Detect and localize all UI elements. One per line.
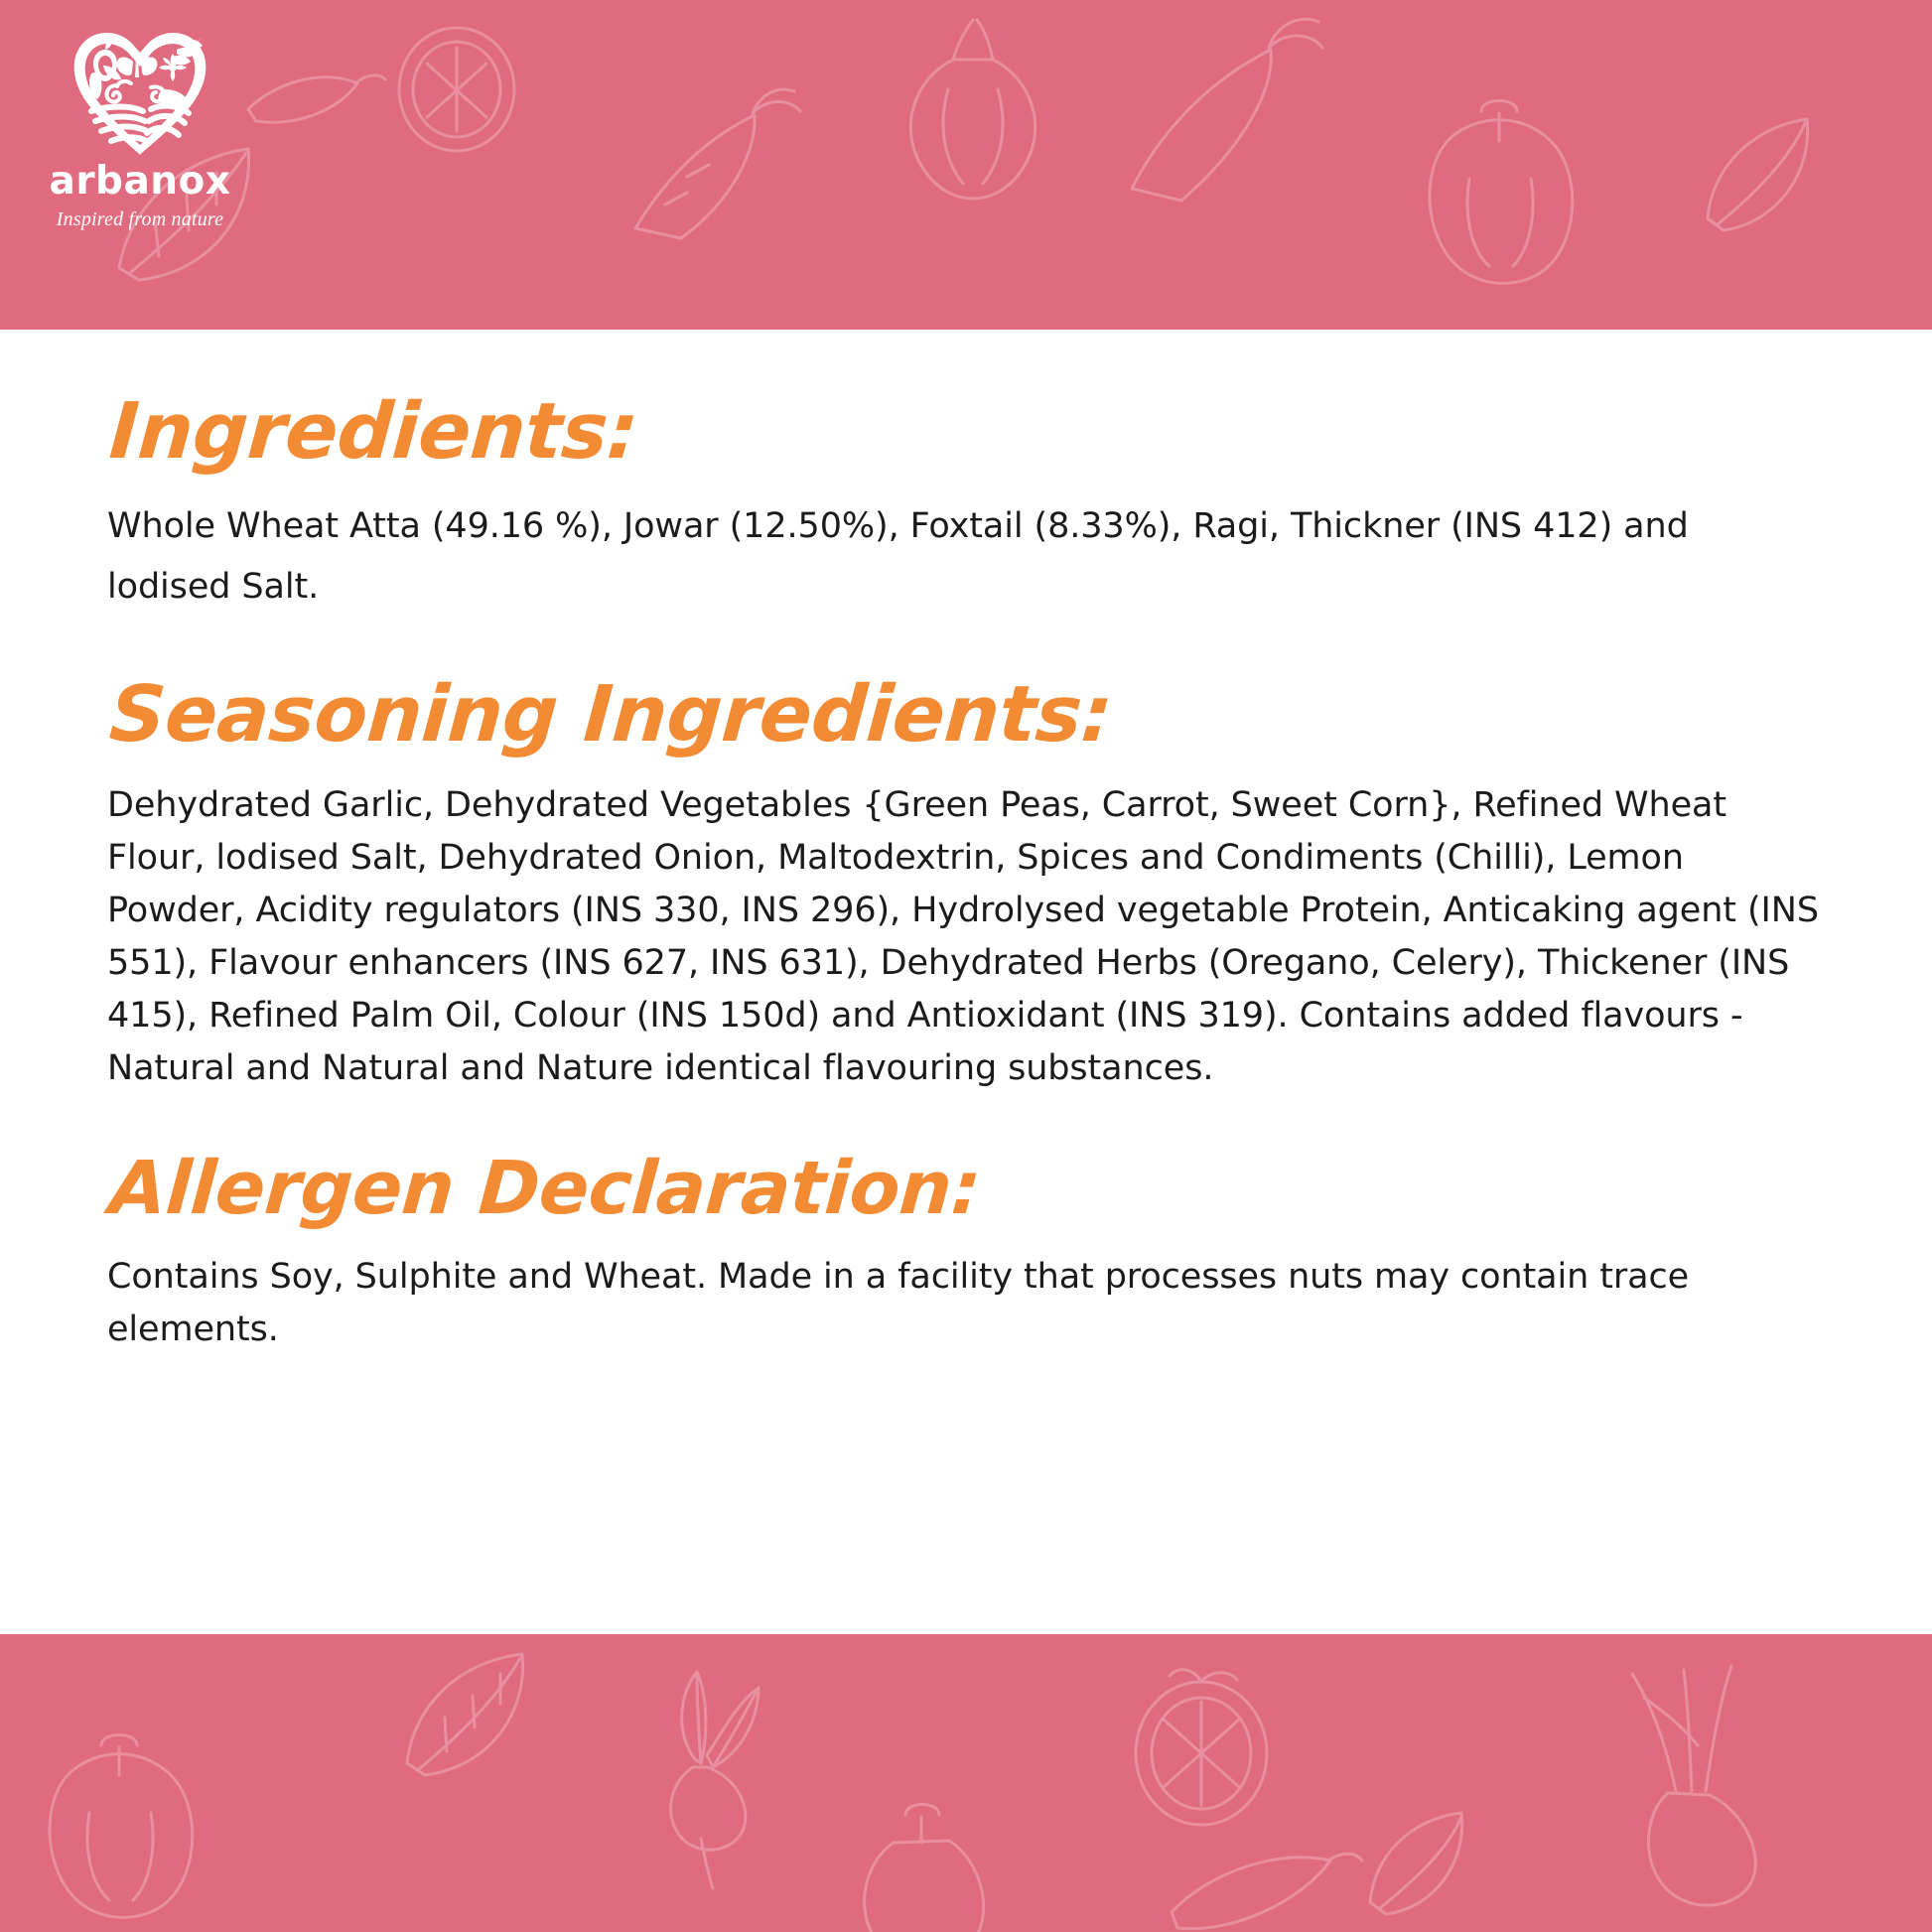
seasoning-ingredients-body: Dehydrated Garlic, Dehydrated Vegetables… [107,779,1825,1096]
ingredients-body: Whole Wheat Atta (49.16 %), Jowar (12.50… [107,496,1795,619]
ingredients-heading: Ingredients: [107,393,1838,471]
ingredients-label-card: arbanox Inspired from nature Ingredients… [0,0,1932,1932]
section-ingredients: Ingredients: Whole Wheat Atta (49.16 %),… [107,393,1833,619]
vegetable-doodle-pattern-bottom [0,1634,1932,1932]
brand-logo: arbanox Inspired from nature [36,24,244,233]
section-seasoning-ingredients: Seasoning Ingredients: Dehydrated Garlic… [107,676,1833,1096]
brand-wordmark: arbanox [36,162,244,201]
bottom-banner [0,1634,1932,1932]
allergen-declaration-body: Contains Soy, Sulphite and Wheat. Made i… [107,1251,1775,1356]
heart-botanical-logo-icon [66,24,214,158]
allergen-declaration-heading: Allergen Declaration: [107,1152,1838,1225]
label-content: Ingredients: Whole Wheat Atta (49.16 %),… [0,330,1932,1634]
seasoning-ingredients-heading: Seasoning Ingredients: [107,676,1838,754]
brand-tagline: Inspired from nature [36,206,244,233]
section-allergen-declaration: Allergen Declaration: Contains Soy, Sulp… [107,1152,1833,1356]
vegetable-doodle-pattern-top [0,0,1932,330]
top-banner: arbanox Inspired from nature [0,0,1932,330]
